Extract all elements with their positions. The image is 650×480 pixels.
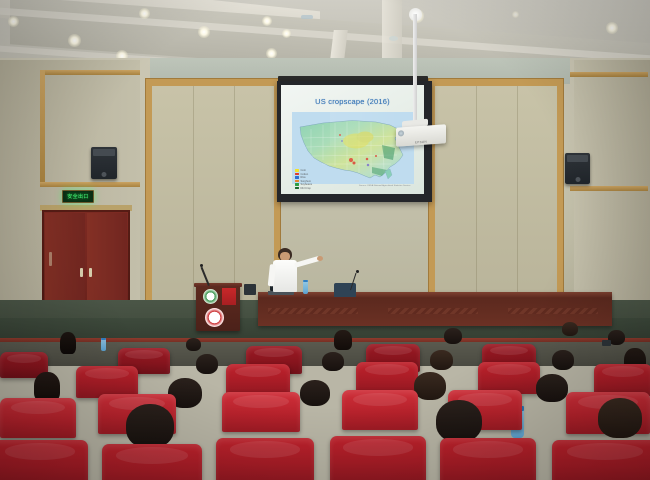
map-legend: Corn Cotton Rice Sorghum Soybeans Dbl Cr… — [295, 169, 312, 190]
podium-main-logo — [205, 308, 224, 327]
auditorium-seat[interactable] — [222, 392, 300, 432]
downlight — [512, 11, 519, 18]
audience-head — [334, 330, 352, 350]
projector-pole — [413, 14, 417, 124]
wall-trim-left — [40, 70, 140, 75]
audience-head — [322, 352, 344, 371]
audience-head — [430, 350, 453, 370]
downlight — [262, 16, 272, 26]
downlight — [282, 29, 291, 38]
slide-title: US cropscape (2016) — [281, 97, 424, 106]
audience-head — [300, 380, 330, 406]
auditorium-seat-foreground[interactable] — [552, 440, 650, 480]
audience-bottle-far — [101, 338, 106, 351]
projector-light-beam — [330, 112, 402, 146]
auditorium-seat[interactable] — [342, 390, 418, 430]
auditorium-seat-foreground[interactable] — [440, 438, 536, 480]
downlight — [8, 16, 19, 27]
audience-head — [186, 338, 201, 351]
downlight — [606, 22, 618, 34]
auditorium-seat-foreground[interactable] — [0, 440, 88, 480]
downlight — [198, 26, 210, 38]
podium-microphone-head — [200, 264, 203, 267]
audience-head — [60, 332, 76, 354]
audience-head-foreground — [126, 404, 174, 448]
wall-trim-left-vertical — [40, 70, 45, 185]
audience-head — [536, 374, 568, 402]
ceiling-vent — [301, 15, 313, 19]
legend-label: Dbl Crop — [301, 187, 311, 190]
table-microphone-head — [356, 270, 359, 273]
auditorium-seat-foreground[interactable] — [102, 444, 202, 480]
legend-swatch — [295, 187, 299, 190]
presenter-hand — [317, 256, 323, 261]
map-credit: Source: USDA National Agricultural Stati… — [359, 185, 410, 187]
projector-epson: EPSON — [396, 124, 446, 146]
exit-sign-label: 安全出口 — [67, 193, 89, 200]
legend-swatch — [295, 180, 299, 183]
auditorium-seat[interactable] — [0, 398, 76, 438]
legend-swatch — [295, 183, 299, 186]
auditorium-seat-foreground[interactable] — [216, 438, 314, 480]
presenter — [262, 248, 322, 300]
wall-panel-left — [152, 86, 274, 302]
presenter-torso — [273, 260, 297, 292]
wall-trim-left-lower — [40, 182, 140, 187]
wall-trim-right — [570, 72, 648, 77]
audience-head-foreground — [436, 400, 482, 442]
podium-red-banner — [222, 288, 236, 305]
audience-head — [552, 350, 574, 370]
smartphone-camera — [602, 340, 611, 346]
auditorium-seat-foreground[interactable] — [330, 436, 426, 480]
audience-head-foreground — [598, 398, 642, 438]
legend-swatch — [295, 169, 299, 172]
podium-emblem-top — [203, 289, 218, 304]
audience-head — [444, 328, 462, 344]
smoke-detector — [389, 36, 398, 41]
audience-head — [196, 354, 218, 374]
audience-head — [414, 372, 446, 400]
wall-speaker-right — [565, 153, 590, 184]
wall-trim-right-lower — [570, 186, 648, 191]
downlight — [139, 8, 150, 19]
lecture-hall-photo: 安全出口 US cropscape (2016) — [0, 0, 650, 480]
table-equipment-box — [244, 284, 256, 295]
legend-swatch — [295, 176, 299, 179]
legend-item: Dbl Crop — [295, 187, 312, 190]
legend-swatch — [295, 173, 299, 176]
wall-speaker-left — [91, 147, 117, 179]
downlight — [68, 34, 81, 47]
exit-sign: 安全出口 — [62, 190, 94, 203]
wall-panel-right — [435, 86, 557, 302]
audience-head — [562, 322, 578, 336]
